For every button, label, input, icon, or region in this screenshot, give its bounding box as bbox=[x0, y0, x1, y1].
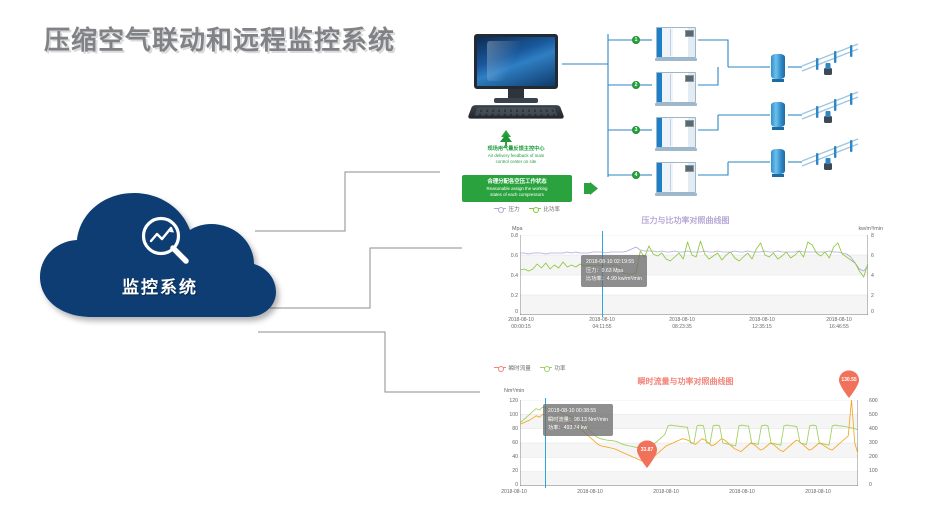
compressor-vent bbox=[670, 164, 671, 191]
chart2-y2tick-5: 100 bbox=[869, 468, 887, 474]
legend-marker-power bbox=[540, 365, 552, 371]
screen-glare bbox=[487, 41, 549, 81]
chart2-y2tick-3: 300 bbox=[869, 440, 887, 446]
chart2-ytick-5: 20 bbox=[494, 468, 518, 474]
legend-marker-specific-power bbox=[529, 206, 541, 212]
chart1-xtick-0: 2018-08-10 00:00:15 bbox=[490, 317, 552, 331]
chart2-xtick-2: 2018-08-10 bbox=[636, 489, 696, 496]
chart2-ytick-2: 80 bbox=[494, 426, 518, 432]
xtick-date: 2018-08-10 bbox=[731, 317, 793, 324]
keyboard-icon bbox=[467, 105, 564, 119]
chart2-ytick-3: 60 bbox=[494, 440, 518, 446]
pressure-power-chart[interactable]: 压力 比功率 压力与比功率对照曲线图 Mpa kw/m³/min 0.8 0.6… bbox=[488, 203, 883, 331]
compressor-unit-3 bbox=[652, 115, 698, 151]
chart2-y2tick-6: 0 bbox=[869, 482, 887, 488]
chart1-ytick-2: 0.4 bbox=[496, 273, 518, 279]
site-caption: 现场用气量反馈主控中心 Air delivery feedback of mai… bbox=[458, 146, 574, 165]
magnifier-chart-icon bbox=[138, 213, 196, 271]
chart1-tooltip-timestamp: 2018-08-10 02:19:55 bbox=[586, 258, 642, 267]
compressor-panel bbox=[685, 120, 694, 127]
legend-marker-pressure bbox=[494, 206, 506, 212]
flow-power-chart[interactable]: 瞬时流量 功率 瞬时流量与功率对照曲线图 Nm³/min 120 100 80 … bbox=[488, 362, 883, 522]
compressor-foot bbox=[655, 58, 697, 61]
chart2-xtick-1: 2018-08-10 bbox=[560, 489, 620, 496]
legend-label-power: 功率 bbox=[554, 364, 565, 372]
chart1-y2tick-3: 2 bbox=[871, 293, 885, 299]
chart1-xtick-3: 2018-08-10 12:35:15 bbox=[731, 317, 793, 331]
chart2-ytick-4: 40 bbox=[494, 454, 518, 460]
xtick-date: 2018-08-10 bbox=[490, 317, 552, 324]
chart1-xtick-4: 2018-08-10 16:46:55 bbox=[808, 317, 870, 331]
chart2-y2tick-0: 600 bbox=[869, 398, 887, 404]
compressor-foot bbox=[655, 148, 697, 151]
chart2-title: 瞬时流量与功率对照曲线图 bbox=[488, 376, 883, 387]
chart1-title: 压力与比功率对照曲线图 bbox=[488, 215, 883, 226]
xtick-date: 2018-08-10 bbox=[571, 317, 633, 324]
compressor-vent bbox=[670, 29, 671, 56]
monitor-base bbox=[494, 98, 538, 103]
desktop-monitor-icon bbox=[468, 34, 564, 126]
legend-label-flow: 瞬时流量 bbox=[509, 364, 531, 372]
chart2-tooltip-timestamp: 2018-08-10 00:38:55 bbox=[548, 407, 608, 416]
chart2-marker-high-label: 130.55 bbox=[838, 377, 860, 383]
xtick-time: 00:00:15 bbox=[490, 324, 552, 331]
chart1-y-axis-unit: Mpa bbox=[512, 226, 523, 232]
chart1-y2tick-4: 0 bbox=[871, 309, 885, 315]
node-dot-3: 3 bbox=[632, 126, 640, 134]
xtick-time: 04:11:55 bbox=[571, 324, 633, 331]
chart1-tooltip-row1: 压力：0.63 Mpa bbox=[586, 267, 642, 276]
tank-legs bbox=[772, 174, 784, 177]
node-dot-4: 4 bbox=[632, 171, 640, 179]
compressor-foot bbox=[655, 193, 697, 196]
compressor-panel bbox=[685, 75, 694, 82]
pin-marker-icon bbox=[838, 370, 860, 398]
chart2-xtick-3: 2018-08-10 bbox=[712, 489, 772, 496]
chart2-ytick-0: 120 bbox=[494, 398, 518, 404]
chart2-marker-low-label: 33.87 bbox=[636, 447, 658, 453]
tank-body bbox=[771, 149, 785, 174]
xtick-time: 16:46:55 bbox=[808, 324, 870, 331]
monitor-screen bbox=[474, 34, 558, 89]
chart1-tooltip: 2018-08-10 02:19:55 压力：0.63 Mpa 比功率：4.99… bbox=[581, 255, 647, 287]
tank-legs bbox=[772, 127, 784, 130]
chart1-y2tick-0: 8 bbox=[871, 233, 885, 239]
chart2-y2tick-4: 200 bbox=[869, 454, 887, 460]
chart2-legend[interactable]: 瞬时流量 功率 bbox=[494, 364, 566, 372]
xtick-date: 2018-08-10 bbox=[808, 317, 870, 324]
compressor-unit-1 bbox=[652, 25, 698, 61]
chart1-ytick-3: 0.2 bbox=[496, 293, 518, 299]
compressor-vent bbox=[670, 119, 671, 146]
legend-item-pressure[interactable]: 压力 bbox=[494, 205, 520, 213]
chart1-y2-axis-unit: kw/m³/min bbox=[858, 226, 883, 232]
chart2-tooltip: 2018-08-10 00:38:55 瞬时流量：98.13 Nm³/min 功… bbox=[543, 404, 613, 436]
chart2-ytick-6: 0 bbox=[494, 482, 518, 488]
callout-zh: 合理分配各空压工作状态 bbox=[487, 179, 546, 186]
compressor-unit-4 bbox=[652, 160, 698, 196]
xtick-date: 2018-08-10 bbox=[651, 317, 713, 324]
legend-item-power[interactable]: 功率 bbox=[540, 364, 566, 372]
chart2-xtick-4: 2018-08-10 bbox=[788, 489, 848, 496]
chart1-ytick-4: 0 bbox=[496, 309, 518, 315]
chart2-y2tick-2: 400 bbox=[869, 426, 887, 432]
chart1-xtick-2: 2018-08-10 08:23:35 bbox=[651, 317, 713, 331]
chart1-xtick-1: 2018-08-10 04:11:55 bbox=[571, 317, 633, 331]
chart2-tooltip-row1: 瞬时流量：98.13 Nm³/min bbox=[548, 416, 608, 425]
compressor-panel bbox=[685, 165, 694, 172]
legend-item-flow[interactable]: 瞬时流量 bbox=[494, 364, 531, 372]
callout-en-2: states of each compressors bbox=[490, 192, 544, 198]
xtick-time: 08:23:35 bbox=[651, 324, 713, 331]
chart1-legend[interactable]: 压力 比功率 bbox=[494, 205, 560, 213]
pin-marker-icon bbox=[636, 440, 658, 468]
node-dot-2: 2 bbox=[632, 81, 640, 89]
compressor-unit-2 bbox=[652, 70, 698, 106]
chart2-xtick-0: 2018-08-10 bbox=[484, 489, 544, 496]
site-caption-en-2: control center on site bbox=[458, 159, 574, 165]
chart1-y2tick-1: 6 bbox=[871, 253, 885, 259]
system-diagram-panel: 现场用气量反馈主控中心 Air delivery feedback of mai… bbox=[440, 22, 940, 207]
slide-canvas: 压缩空气联动和远程监控系统 监控系统 bbox=[0, 0, 945, 529]
chart2-ytick-1: 100 bbox=[494, 412, 518, 418]
compressor-foot bbox=[655, 103, 697, 106]
site-caption-zh: 现场用气量反馈主控中心 bbox=[458, 146, 574, 153]
legend-item-specific-power[interactable]: 比功率 bbox=[529, 205, 560, 213]
chart2-marker-high[interactable]: 130.55 bbox=[838, 370, 860, 398]
chart2-y-axis-unit: Nm³/min bbox=[504, 388, 524, 394]
chart1-y2tick-2: 4 bbox=[871, 273, 885, 279]
chart2-tooltip-row2: 功率：493.74 kw bbox=[548, 424, 608, 433]
tank-body bbox=[771, 54, 785, 79]
chart2-y2tick-1: 500 bbox=[869, 412, 887, 418]
air-tank-2 bbox=[770, 100, 786, 130]
node-dot-1: 1 bbox=[632, 36, 640, 44]
cloud-label: 监控系统 bbox=[30, 273, 290, 298]
chart1-ytick-1: 0.6 bbox=[496, 253, 518, 259]
legend-label-pressure: 压力 bbox=[509, 205, 520, 213]
tank-legs bbox=[772, 79, 784, 82]
xtick-time: 12:35:15 bbox=[731, 324, 793, 331]
legend-label-specific-power: 比功率 bbox=[543, 205, 560, 213]
keyboard-keys bbox=[475, 108, 558, 116]
chart1-tooltip-row2: 比功率：4.99 kw/m³/min bbox=[586, 275, 642, 284]
compressor-panel bbox=[685, 30, 694, 37]
chart1-plot-area[interactable] bbox=[520, 235, 868, 315]
right-arrow-icon bbox=[584, 182, 598, 195]
monitoring-cloud[interactable]: 监控系统 bbox=[30, 185, 290, 330]
chart2-marker-low[interactable]: 33.87 bbox=[636, 440, 658, 468]
air-tank-3 bbox=[770, 147, 786, 177]
air-tank-1 bbox=[770, 52, 786, 82]
chart1-ytick-0: 0.8 bbox=[496, 233, 518, 239]
compressor-vent bbox=[670, 74, 671, 101]
tank-body bbox=[771, 102, 785, 127]
legend-marker-flow bbox=[494, 365, 506, 371]
allocation-callout-box: 合理分配各空压工作状态 Reasonable assign the workin… bbox=[462, 175, 572, 202]
